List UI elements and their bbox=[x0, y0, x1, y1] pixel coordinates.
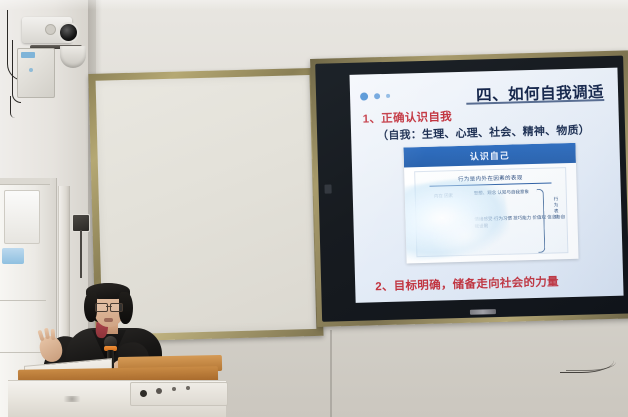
presenter-mouth bbox=[104, 318, 113, 322]
figure-brace-icon bbox=[537, 189, 546, 253]
slide-point-1: 1、正确认识自我 bbox=[362, 108, 452, 126]
presenter-glasses-icon bbox=[95, 303, 123, 310]
smartboard-brand-logo bbox=[470, 309, 496, 315]
figure-body: 行为是内外在因素的表现 内在 因素 思想、观念 认知与自我意象 情绪感受·行为习… bbox=[414, 167, 568, 257]
smartboard-frame: 四、如何自我调适 1、正确认识自我 （自我：生理、心理、社会、精神、物质） 认识… bbox=[310, 50, 628, 327]
slide-point-2: 2、目标明确，储备走向社会的力量 bbox=[375, 273, 559, 294]
camera-knob-icon bbox=[45, 24, 56, 35]
dot-large-icon bbox=[360, 92, 368, 100]
podium-control-button[interactable] bbox=[140, 390, 147, 397]
cabinet-badge-icon bbox=[2, 248, 24, 264]
camera-lens-icon bbox=[58, 22, 79, 43]
wall-highlight-band bbox=[0, 0, 628, 10]
junction-box-indicator-icon bbox=[29, 68, 33, 72]
smartboard-sensor-icon bbox=[324, 185, 331, 194]
figure-header-bar: 认识自己 bbox=[403, 143, 575, 168]
figure-brace-label: 行为表现 bbox=[552, 196, 561, 220]
dot-small-icon bbox=[386, 94, 390, 98]
cabinet-seam bbox=[0, 300, 46, 301]
board-assembly: 四、如何自我调适 1、正确认识自我 （自我：生理、心理、社会、精神、物质） 认识… bbox=[88, 45, 628, 350]
podium-control-button[interactable] bbox=[172, 387, 176, 391]
wall-switch-cord bbox=[80, 230, 82, 278]
podium-control-button[interactable] bbox=[186, 386, 190, 390]
cabinet-vent-slot bbox=[4, 190, 40, 244]
figure-column-b: 思想、观念 认知与自我意象 bbox=[474, 189, 529, 197]
dot-medium-icon bbox=[374, 93, 380, 99]
wall-cable bbox=[10, 96, 15, 118]
slide-figure: 认识自己 行为是内外在因素的表现 内在 因素 思想、观念 认知与自我意象 情绪感… bbox=[403, 143, 578, 264]
classroom-photo-scene: 四、如何自我调适 1、正确认识自我 （自我：生理、心理、社会、精神、物质） 认识… bbox=[0, 0, 628, 417]
cabinet-seam bbox=[0, 352, 46, 353]
figure-column-a: 内在 因素 bbox=[434, 193, 453, 200]
slide-decor-dots bbox=[360, 92, 390, 101]
figure-header-text: 认识自己 bbox=[470, 148, 510, 162]
smartboard-screen[interactable]: 四、如何自我调适 1、正确认识自我 （自我：生理、心理、社会、精神、物质） 认识… bbox=[349, 68, 623, 303]
podium-control-button[interactable] bbox=[156, 388, 162, 394]
cabinet-top-edge bbox=[0, 178, 50, 185]
podium-logo bbox=[60, 396, 84, 402]
presenter-finger bbox=[51, 329, 56, 340]
smartboard-bezel: 四、如何自我调适 1、正确认识自我 （自我：生理、心理、社会、精神、物质） 认识… bbox=[315, 56, 628, 322]
junction-box-label-sticker bbox=[21, 52, 35, 58]
